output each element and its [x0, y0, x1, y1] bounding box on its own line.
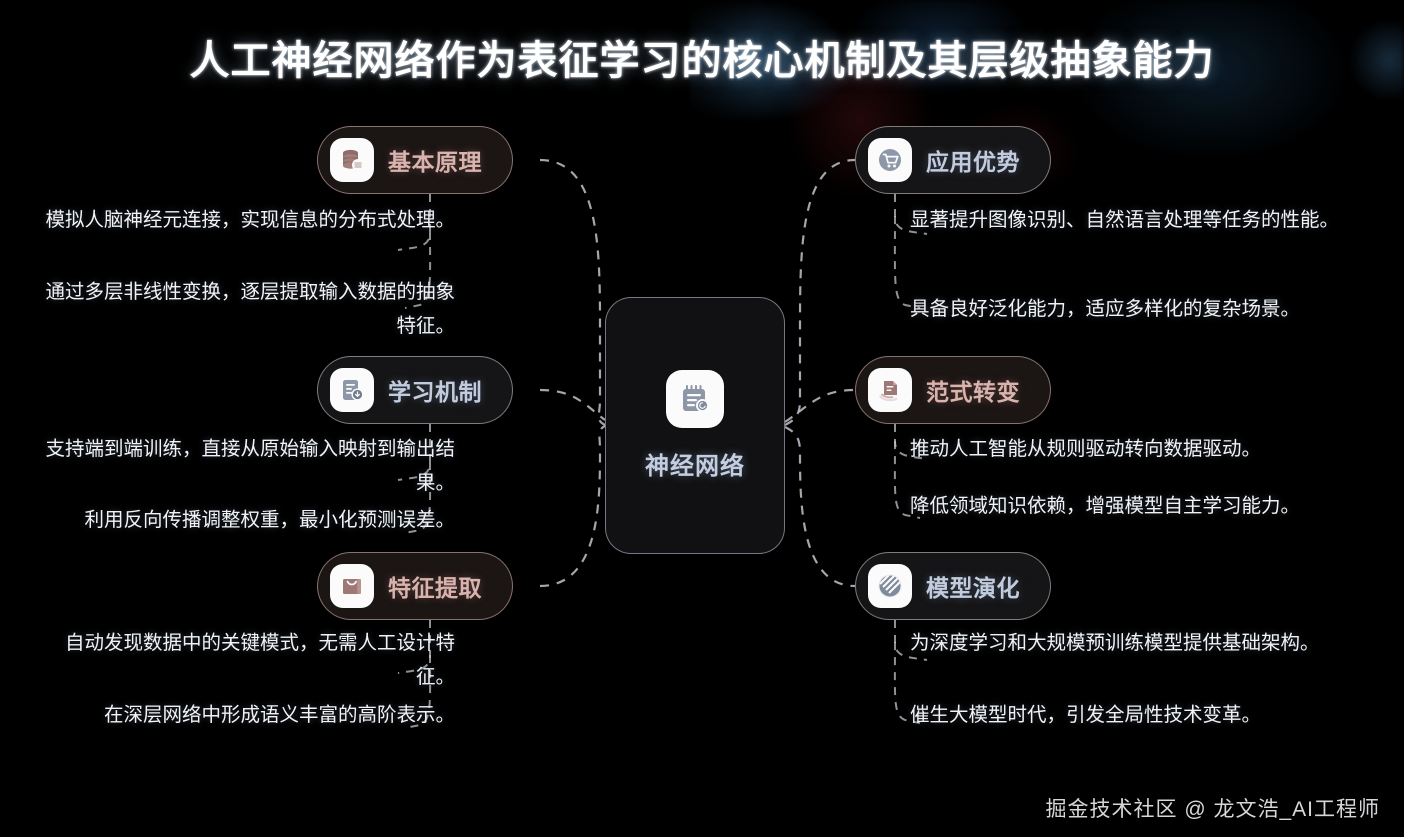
node-label: 特征提取 — [388, 569, 482, 603]
node-feature-extraction[interactable]: 特征提取 — [317, 552, 513, 620]
node-basic-principle[interactable]: 基本原理 — [317, 126, 513, 194]
detail-text: 降低领域知识依赖，增强模型自主学习能力。 — [910, 489, 1370, 523]
node-label: 模型演化 — [926, 569, 1020, 603]
detail-text: 显著提升图像识别、自然语言处理等任务的性能。 — [910, 203, 1370, 237]
database-stack-icon — [330, 138, 374, 182]
center-node-label: 神经网络 — [645, 446, 745, 481]
center-node-neural-network[interactable]: 神经网络 — [605, 297, 785, 554]
detail-text: 为深度学习和大规模预训练模型提供基础架构。 — [910, 626, 1370, 660]
detail-text: 模拟人脑神经元连接，实现信息的分布式处理。 — [35, 203, 455, 237]
node-application-advantage[interactable]: 应用优势 — [855, 126, 1051, 194]
node-learning-mechanism[interactable]: 学习机制 — [317, 356, 513, 424]
node-label: 基本原理 — [388, 143, 482, 177]
footer-credit: 掘金技术社区 @ 龙文浩_AI工程师 — [1045, 793, 1380, 823]
detail-text: 通过多层非线性变换，逐层提取输入数据的抽象特征。 — [35, 275, 455, 343]
document-hand-icon — [868, 368, 912, 412]
detail-text: 支持端到端训练，直接从原始输入映射到输出结果。 — [35, 432, 455, 500]
document-download-icon — [330, 368, 374, 412]
detail-text: 催生大模型时代，引发全局性技术变革。 — [910, 698, 1370, 732]
node-label: 应用优势 — [926, 143, 1020, 177]
node-label: 范式转变 — [926, 373, 1020, 407]
page-title: 人工神经网络作为表征学习的核心机制及其层级抽象能力 — [0, 28, 1404, 86]
node-label: 学习机制 — [388, 373, 482, 407]
detail-text: 利用反向传播调整权重，最小化预测误差。 — [35, 503, 455, 537]
striped-sphere-icon — [868, 564, 912, 608]
node-paradigm-shift[interactable]: 范式转变 — [855, 356, 1051, 424]
detail-text: 在深层网络中形成语义丰富的高阶表示。 — [35, 698, 455, 732]
node-model-evolution[interactable]: 模型演化 — [855, 552, 1051, 620]
detail-text: 具备良好泛化能力，适应多样化的复杂场景。 — [910, 292, 1370, 326]
detail-text: 推动人工智能从规则驱动转向数据驱动。 — [910, 432, 1370, 466]
shopping-bag-icon — [330, 564, 374, 608]
mindmap-canvas: 人工神经网络作为表征学习的核心机制及其层级抽象能力 — [0, 0, 1404, 837]
shopping-cart-icon — [868, 138, 912, 182]
notepad-icon — [666, 370, 724, 428]
detail-text: 自动发现数据中的关键模式，无需人工设计特征。 — [35, 626, 455, 694]
